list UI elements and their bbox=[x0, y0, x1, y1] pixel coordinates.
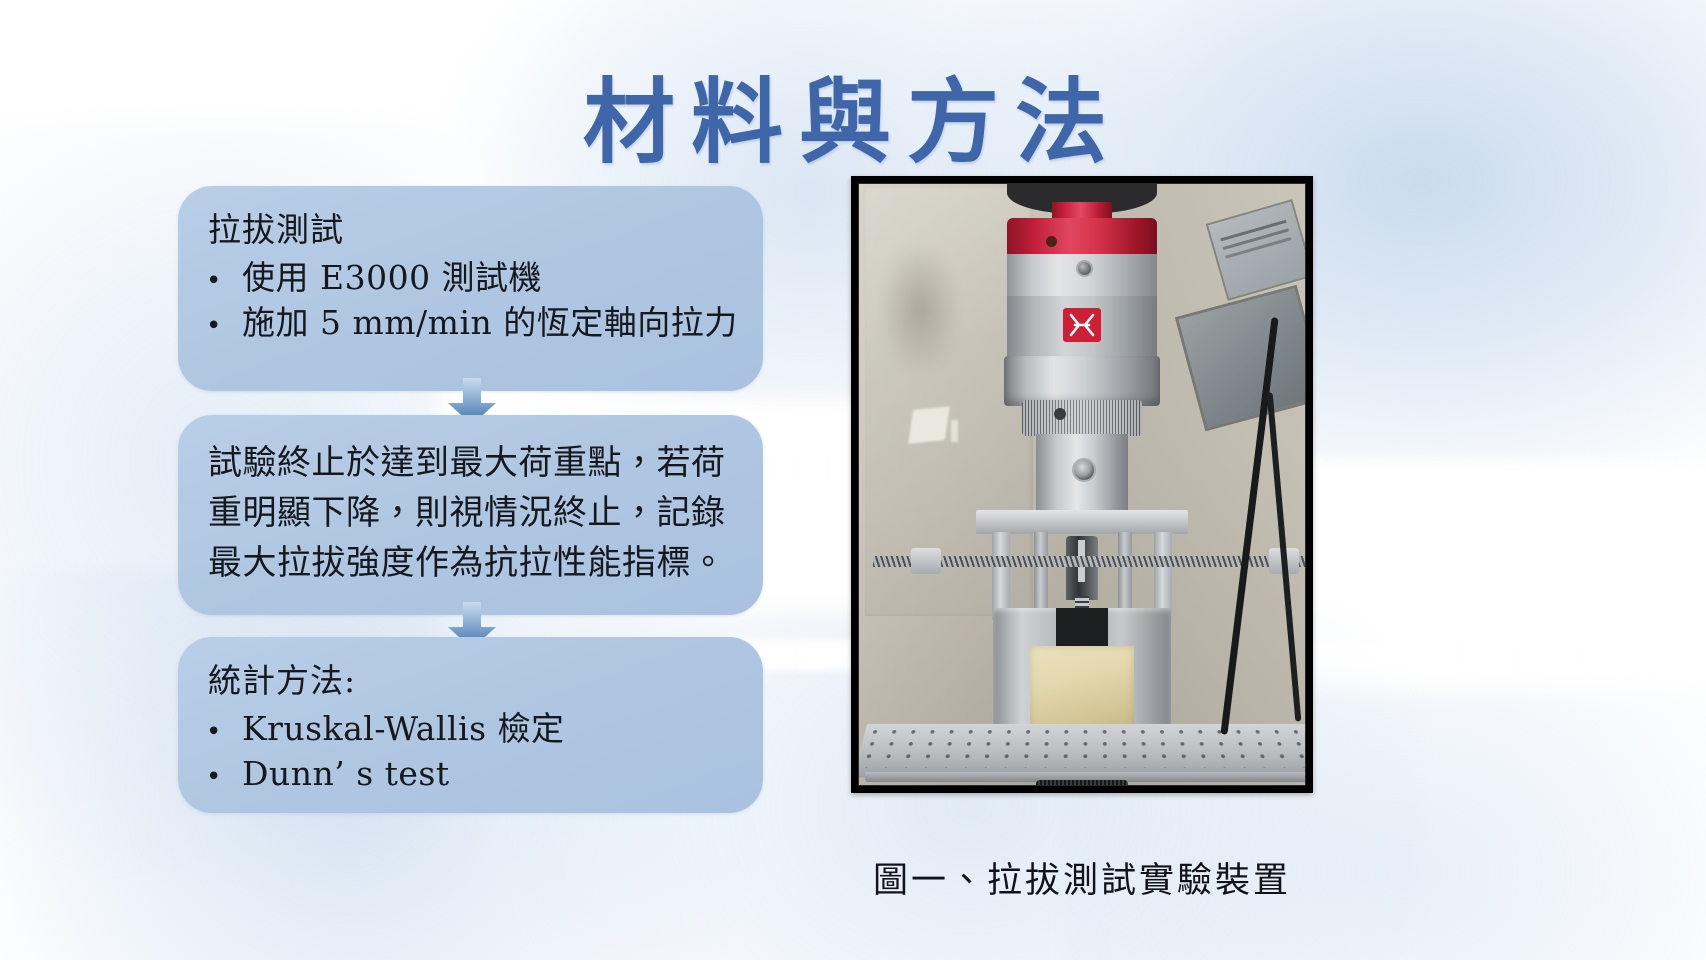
bullet-list: • Kruskal-Wallis 檢定 • Dunn’ s test bbox=[202, 707, 733, 797]
photo-upper-grip-plate bbox=[976, 510, 1188, 534]
photo-grip-post-right bbox=[1154, 532, 1172, 620]
photo-glass-highlight bbox=[908, 406, 950, 444]
photo-red-anodized-ring bbox=[1007, 218, 1157, 256]
list-item: • 使用 E3000 測試機 bbox=[202, 256, 733, 301]
flow-box-heading: 拉拔測試 bbox=[208, 210, 733, 250]
flow-box-statistics: 統計方法: • Kruskal-Wallis 檢定 • Dunn’ s test bbox=[178, 637, 763, 813]
photo-collar-bolt bbox=[1054, 408, 1066, 420]
flow-box-heading: 統計方法: bbox=[208, 661, 733, 701]
photo-load-cell-flange bbox=[1004, 356, 1160, 406]
flow-box-pullout-test: 拉拔測試 • 使用 E3000 測試機 • 施加 5 mm/min 的恆定軸向拉… bbox=[178, 186, 763, 391]
bullet-marker-icon: • bbox=[202, 719, 242, 745]
photo-glass-highlight-2 bbox=[951, 420, 958, 442]
slide-title: 材料與方法 bbox=[0, 48, 1706, 181]
bullet-text: Dunn’ s test bbox=[242, 752, 450, 797]
figure-frame bbox=[851, 176, 1313, 793]
figure-caption: 圖一、拉拔測試實驗裝置 bbox=[851, 852, 1313, 903]
photo-shaft-port bbox=[1074, 460, 1094, 480]
bullet-text: 使用 E3000 測試機 bbox=[242, 256, 542, 301]
photo-manufacturer-badge bbox=[1063, 308, 1101, 342]
paragraph-line: 重明顯下降，則視情況終止，記錄 bbox=[208, 489, 733, 539]
photo-grip-post-left-inner bbox=[1034, 532, 1048, 612]
photo-load-cell-upper bbox=[1007, 254, 1157, 298]
paragraph-line: 最大拉拔強度作為抗拉性能指標。 bbox=[208, 539, 733, 589]
bullet-marker-icon: • bbox=[202, 313, 242, 339]
photo-rod-knob-left bbox=[911, 548, 941, 574]
photo-fixture-notch bbox=[1056, 608, 1108, 648]
photo-base-plate-holes bbox=[858, 726, 1306, 767]
apparatus-photo bbox=[858, 183, 1306, 786]
bullet-marker-icon: • bbox=[202, 764, 242, 790]
bullet-text: Kruskal-Wallis 檢定 bbox=[242, 707, 565, 752]
slide-canvas: 材料與方法 拉拔測試 • 使用 E3000 測試機 • 施加 5 mm/min … bbox=[0, 0, 1706, 960]
bullet-text: 施加 5 mm/min 的恆定軸向拉力 bbox=[242, 301, 738, 346]
photo-glass-shadow bbox=[883, 250, 957, 370]
photo-clevis-fork bbox=[1066, 536, 1098, 600]
list-item: • 施加 5 mm/min 的恆定軸向拉力 bbox=[202, 301, 733, 346]
photo-grip-post-right-inner bbox=[1118, 532, 1132, 612]
list-item: • Kruskal-Wallis 檢定 bbox=[202, 707, 733, 752]
photo-specimen-block bbox=[1030, 646, 1134, 732]
photo-load-cell-port bbox=[1046, 236, 1057, 247]
photo-knurled-collar bbox=[1022, 400, 1142, 436]
photo-load-cell-screw bbox=[1078, 262, 1091, 275]
list-item: • Dunn’ s test bbox=[202, 752, 733, 797]
photo-grip-post-left bbox=[992, 532, 1010, 620]
flow-box-termination-criteria: 試驗終止於達到最大荷重點，若荷 重明顯下降，則視情況終止，記錄 最大拉拔強度作為… bbox=[178, 415, 763, 615]
bullet-list: • 使用 E3000 測試機 • 施加 5 mm/min 的恆定軸向拉力 bbox=[202, 256, 733, 346]
bullet-marker-icon: • bbox=[202, 268, 242, 294]
photo-base-pedestal bbox=[1036, 780, 1128, 786]
paragraph-line: 試驗終止於達到最大荷重點，若荷 bbox=[208, 439, 733, 489]
